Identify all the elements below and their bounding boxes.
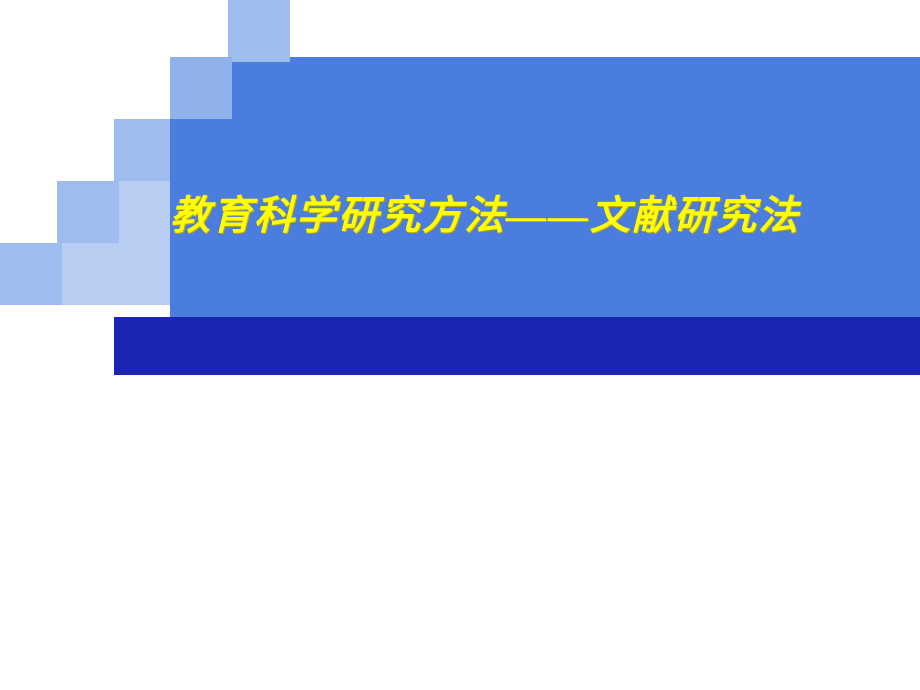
decorative-block-row3-accent [114,119,176,181]
title-underbar [114,317,920,375]
decorative-overlay-block-top [228,0,290,62]
slide-title: 教育科学研究方法——文献研究法 [170,196,920,236]
decorative-overlay-block-left [170,57,232,119]
decorative-block-row4-accent [57,181,119,243]
presentation-slide: 教育科学研究方法——文献研究法 [0,0,920,690]
decorative-block-row5-accent [0,243,62,305]
title-banner [170,57,920,317]
